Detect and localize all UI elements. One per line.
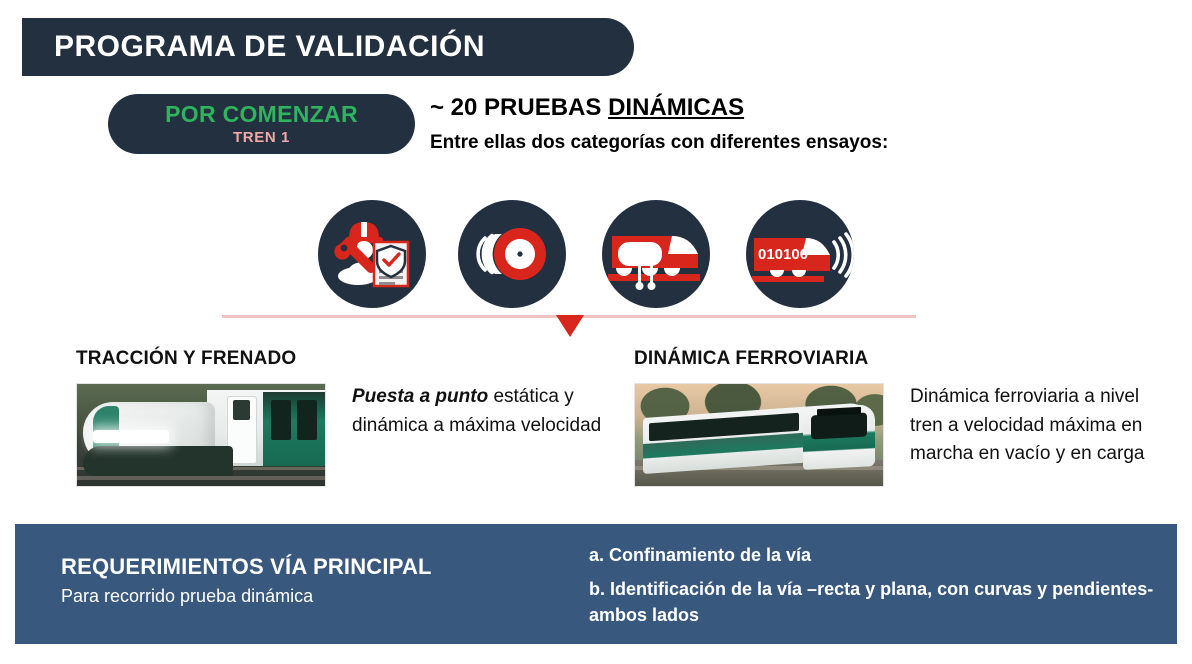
section-description: Dinámica ferroviaria a nivel tren a velo… (910, 383, 1160, 469)
requirements-subtitle: Para recorrido prueba dinámica (61, 586, 561, 607)
requirements-title: REQUERIMIENTOS VÍA PRINCIPAL (61, 554, 561, 580)
section-title: DINÁMICA FERROVIARIA (634, 348, 1174, 370)
section-dinamica-ferroviaria: DINÁMICA FERROVIARIA Dinámica ferroviari… (634, 348, 1174, 487)
brake-disc-icon (458, 200, 566, 308)
requirements-banner: REQUERIMIENTOS VÍA PRINCIPAL Para recorr… (15, 524, 1177, 644)
requirements-banner-left: REQUERIMIENTOS VÍA PRINCIPAL Para recorr… (61, 554, 561, 607)
page-header-banner: PROGRAMA DE VALIDACIÓN (22, 18, 634, 76)
requirements-list: a. Confinamiento de la vía b. Identifica… (589, 542, 1159, 636)
list-item: a. Confinamiento de la vía (589, 542, 1159, 568)
section-description: Puesta a punto estática y dinámica a máx… (352, 383, 602, 440)
train-photo-traccion-frenado: TRENMAYA (76, 383, 326, 487)
train-data-signal-icon: 010100 (746, 200, 854, 308)
list-item: b. Identificación de la vía –recta y pla… (589, 576, 1159, 628)
page-title: PROGRAMA DE VALIDACIÓN (54, 30, 485, 64)
engineer-maintenance-icon (318, 200, 426, 308)
divider-arrow-down-icon (556, 315, 584, 337)
train-photo-dinamica-ferroviaria (634, 383, 884, 487)
headline-primary-underlined: DINÁMICAS (608, 94, 744, 121)
status-badge-por-comenzar: POR COMENZAR TREN 1 (108, 94, 415, 154)
headline-primary-prefix: ~ 20 PRUEBAS (430, 94, 608, 121)
status-badge-sublabel: TREN 1 (233, 129, 290, 146)
icon-row: 010100 (318, 200, 858, 310)
section-description-emphasis: Puesta a punto (352, 386, 488, 407)
headline-primary: ~ 20 PRUEBAS DINÁMICAS (430, 93, 1070, 123)
section-title: TRACCIÓN Y FRENADO (76, 348, 616, 370)
headline-secondary: Entre ellas dos categorías con diferente… (430, 132, 1070, 154)
section-traccion-y-frenado: TRACCIÓN Y FRENADO TRENMAYA Puesta a pun… (76, 348, 616, 487)
headline-block: ~ 20 PRUEBAS DINÁMICAS Entre ellas dos c… (430, 93, 1070, 154)
status-badge-label: POR COMENZAR (165, 102, 358, 126)
train-bogie-icon (602, 200, 710, 308)
svg-text:010100: 010100 (758, 246, 808, 263)
section-description-rest: Dinámica ferroviaria a nivel tren a velo… (910, 386, 1144, 464)
